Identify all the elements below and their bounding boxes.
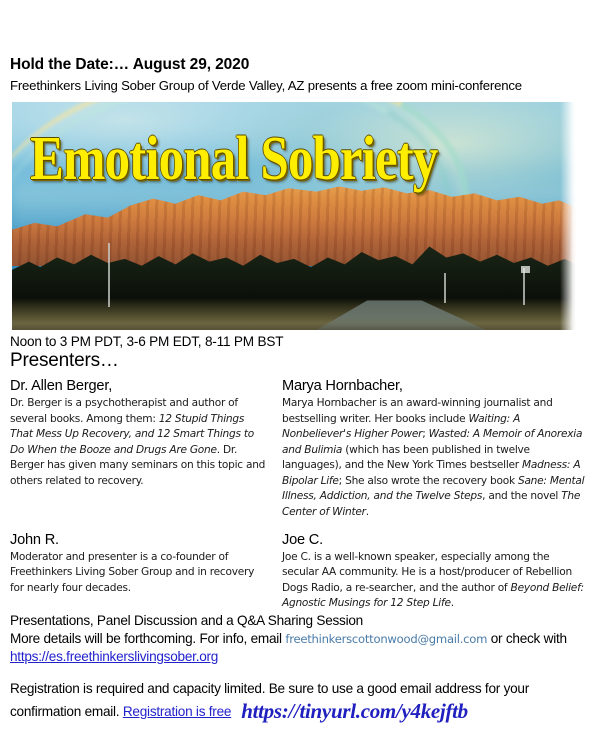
presenter-row-2: John R. Moderator and presenter is a co-… <box>10 532 590 612</box>
contact-text-before: More details will be forthcoming. For in… <box>10 631 285 646</box>
presenter-name: John R. <box>10 532 268 548</box>
session-format-line: Presentations, Panel Discussion and a Q&… <box>10 612 592 630</box>
flyer-subheading: Freethinkers Living Sober Group of Verde… <box>10 78 522 93</box>
presenter-row-1: Dr. Allen Berger, Dr. Berger is a psycho… <box>10 378 590 521</box>
presenter-card-hornbacher: Marya Hornbacher, Marya Hornbacher is an… <box>282 378 588 521</box>
email-link[interactable]: freethinkerscottonwood@gmail.com <box>285 632 487 646</box>
event-banner-image: Emotional Sobriety <box>12 102 576 330</box>
utility-pole <box>444 273 446 303</box>
presenter-card-berger: Dr. Allen Berger, Dr. Berger is a psycho… <box>10 378 268 489</box>
flyer-page: Hold the Date:… August 29, 2020 Freethin… <box>0 0 600 747</box>
presenter-bio: Moderator and presenter is a co-founder … <box>10 550 268 597</box>
presenter-name: Dr. Allen Berger, <box>10 378 268 394</box>
presenter-name: Marya Hornbacher, <box>282 378 588 394</box>
registration-free-link[interactable]: Registration is free <box>123 704 231 719</box>
contact-text-mid: or check with <box>487 631 567 646</box>
registration-tinyurl[interactable]: https://tinyurl.com/y4kejftb <box>241 699 468 723</box>
banner-right-fade <box>560 102 576 330</box>
banner-title: Emotional Sobriety <box>30 128 438 190</box>
registration-block: Registration is required and capacity li… <box>10 680 592 726</box>
presenter-card-joe-c: Joe C. Joe C. is a well-known speaker, e… <box>282 532 588 612</box>
road-sign <box>521 266 530 273</box>
contact-line: More details will be forthcoming. For in… <box>10 630 592 666</box>
presenters-heading: Presenters… <box>10 350 119 372</box>
website-link[interactable]: https://es.freethinkerslivingsober.org <box>10 649 218 664</box>
event-times: Noon to 3 PM PDT, 3-6 PM EDT, 8-11 PM BS… <box>10 334 283 349</box>
presenter-bio: Joe C. is a well-known speaker, especial… <box>282 550 588 612</box>
presenters-grid: Dr. Allen Berger, Dr. Berger is a psycho… <box>10 378 590 612</box>
utility-pole <box>523 268 525 304</box>
foreground-grass <box>12 298 576 330</box>
presenter-bio: Marya Hornbacher is an award-winning jou… <box>282 396 588 521</box>
utility-pole <box>108 243 110 307</box>
presenter-bio: Dr. Berger is a psychotherapist and auth… <box>10 396 268 489</box>
hold-the-date-title: Hold the Date:… August 29, 2020 <box>10 56 249 74</box>
presenter-name: Joe C. <box>282 532 588 548</box>
presenter-card-john-r: John R. Moderator and presenter is a co-… <box>10 532 268 597</box>
footer-info: Presentations, Panel Discussion and a Q&… <box>10 612 592 666</box>
